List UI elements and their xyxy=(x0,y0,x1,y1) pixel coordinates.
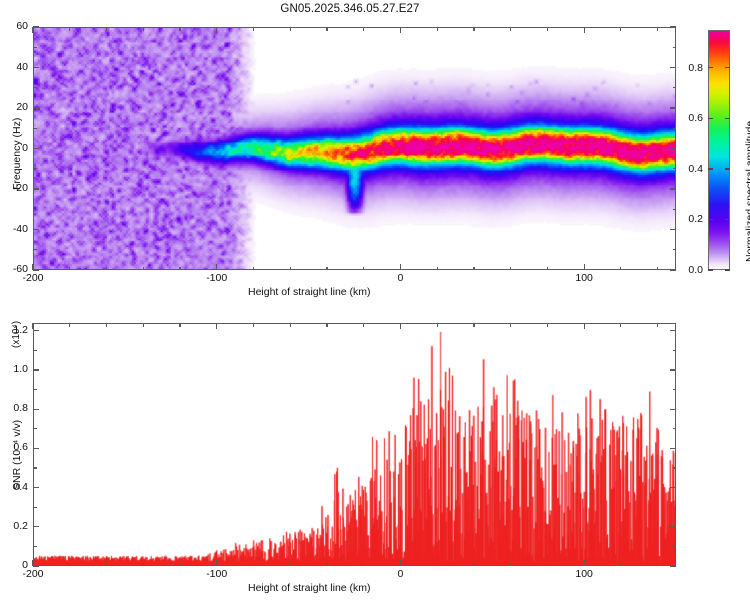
colorbar-tick xyxy=(725,219,730,220)
spectrogram-x-axis-title: Height of straight line (km) xyxy=(248,286,371,298)
colorbar-tick xyxy=(725,168,730,169)
tick-label: 60 xyxy=(2,21,28,31)
tick-label: 0 xyxy=(377,569,423,580)
snr-plot-area xyxy=(33,323,676,566)
tick-label: 100 xyxy=(561,273,607,284)
colorbar-tick-label: 0.4 xyxy=(673,163,703,175)
colorbar-tick-label: 0.8 xyxy=(673,62,703,74)
colorbar-tick-label: 0.6 xyxy=(673,112,703,124)
colorbar-gradient xyxy=(708,30,730,270)
figure-root: GN05.2025.346.05.27.E27 -60-40-200204060… xyxy=(0,0,750,600)
tick-label: -100 xyxy=(194,569,240,580)
colorbar-tick xyxy=(725,118,730,119)
page-title: GN05.2025.346.05.27.E27 xyxy=(0,3,700,15)
tick-label: -100 xyxy=(194,273,240,284)
snr-y-axis-title: SNR (10⁻⁴ v/v) xyxy=(11,420,23,490)
colorbar-tick xyxy=(708,219,713,220)
snr-y-multiplier-label: (x10⁴) xyxy=(11,321,22,348)
colorbar-tick xyxy=(708,67,713,68)
tick-label: -200 xyxy=(10,569,56,580)
tick-label: -40 xyxy=(2,224,28,234)
spectrogram-plot-area xyxy=(33,27,676,270)
tick-label: 20 xyxy=(2,102,28,112)
tick-label: 1.0 xyxy=(2,364,28,374)
colorbar-title: Normalized spectral amplitude xyxy=(744,121,750,262)
tick-label: 40 xyxy=(2,62,28,72)
spectrogram-y-axis-title: Frequency (Hz) xyxy=(11,118,23,190)
tick-label: 100 xyxy=(561,569,607,580)
snr-trace xyxy=(34,324,675,565)
colorbar-tick xyxy=(725,67,730,68)
spectrogram-image xyxy=(34,28,675,269)
colorbar-tick xyxy=(708,168,713,169)
colorbar-tick-label: 0.2 xyxy=(673,213,703,225)
tick-label: 0.8 xyxy=(2,403,28,413)
colorbar-tick xyxy=(725,269,730,270)
tick-label: 0 xyxy=(377,273,423,284)
colorbar-tick xyxy=(708,118,713,119)
colorbar-tick-label: 0.0 xyxy=(673,264,703,276)
snr-x-axis-title: Height of straight line (km) xyxy=(248,582,371,594)
tick-label: -200 xyxy=(10,273,56,284)
tick-label: 0.2 xyxy=(2,521,28,531)
colorbar-tick xyxy=(708,269,713,270)
